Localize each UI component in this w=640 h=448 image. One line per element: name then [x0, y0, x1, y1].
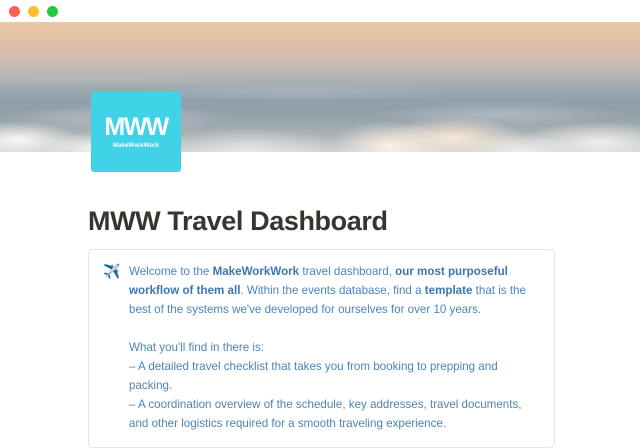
- close-window-button[interactable]: [9, 6, 20, 17]
- intro-part-1: Welcome to the: [129, 265, 213, 278]
- page-content: MWW Travel Dashboard ✈️ Welcome to the M…: [0, 152, 640, 400]
- intro-part-3: . Within the events database, find a: [240, 284, 424, 297]
- minimize-window-button[interactable]: [28, 6, 39, 17]
- callout-bullet-2: – A coordination overview of the schedul…: [129, 395, 538, 433]
- logo-subtitle: MakeWorkWork: [113, 143, 159, 149]
- welcome-callout: ✈️ Welcome to the MakeWorkWork travel da…: [88, 249, 555, 448]
- intro-bold-template: template: [425, 284, 473, 297]
- callout-paragraph-spacer: [129, 319, 538, 338]
- maximize-window-button[interactable]: [47, 6, 58, 17]
- callout-text: Welcome to the MakeWorkWork travel dashb…: [129, 262, 538, 433]
- intro-bold-brand: MakeWorkWork: [213, 265, 300, 278]
- callout-paragraph-intro: Welcome to the MakeWorkWork travel dashb…: [129, 262, 538, 319]
- logo-wordmark: MWW: [104, 115, 167, 140]
- traffic-lights: [9, 6, 58, 17]
- site-logo[interactable]: MWW MakeWorkWork: [91, 92, 181, 172]
- page-title: MWW Travel Dashboard: [88, 206, 388, 237]
- window-title-bar: [0, 0, 640, 22]
- callout-lead-in: What you'll find in there is:: [129, 338, 538, 357]
- intro-part-2: travel dashboard,: [299, 265, 395, 278]
- airplane-icon: ✈️: [103, 262, 120, 433]
- callout-bullet-1: – A detailed travel checklist that takes…: [129, 357, 538, 395]
